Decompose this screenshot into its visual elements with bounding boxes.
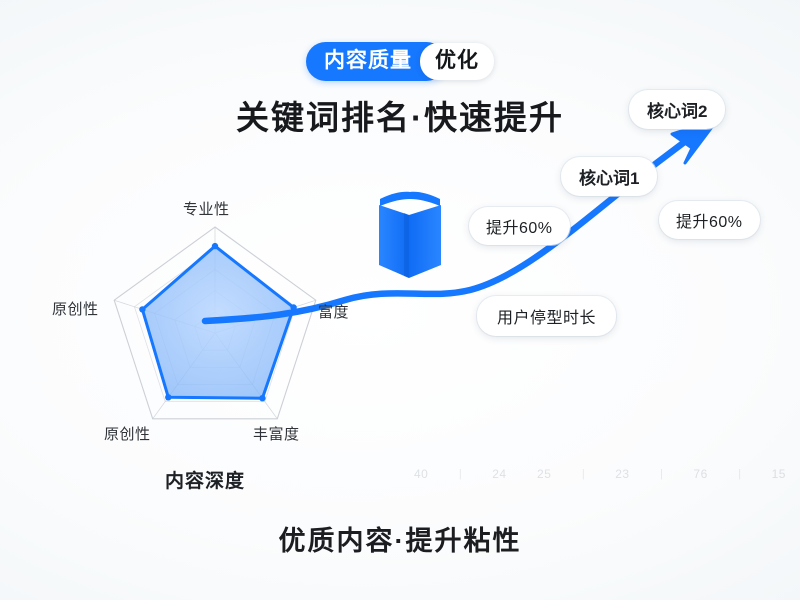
quality-badge[interactable]: 内容质量 优化: [306, 42, 494, 81]
radar-label-bottom-left: 原创性: [104, 423, 151, 444]
page-title: 关键词排名·快速提升: [0, 91, 800, 139]
radar-label-top: 专业性: [183, 198, 230, 219]
pill-keyword-1[interactable]: 核心词1: [561, 157, 657, 196]
book-cover-right: [409, 205, 441, 278]
radar-label-right: 富度: [318, 301, 349, 322]
radar-label-bottom-right: 丰富度: [253, 423, 300, 444]
book-page-top-left: [380, 192, 410, 206]
radar-label-left: 原创性: [52, 298, 99, 319]
book-page-top-right: [410, 192, 440, 206]
radar-footnote: 内容深度: [165, 466, 245, 493]
pill-dwell-time[interactable]: 用户停型时长: [477, 296, 616, 336]
book-spine: [404, 213, 409, 278]
pill-rise-left[interactable]: 提升60%: [469, 207, 570, 245]
poster-canvas: 内容质量 优化 关键词排名·快速提升 优质内容·提升粘性 核心词2 核心词1 提…: [0, 0, 800, 600]
page-tagline: 优质内容·提升粘性: [0, 519, 800, 558]
badge-chip-label: 优化: [420, 43, 494, 80]
pill-rise-right[interactable]: 提升60%: [659, 201, 760, 239]
